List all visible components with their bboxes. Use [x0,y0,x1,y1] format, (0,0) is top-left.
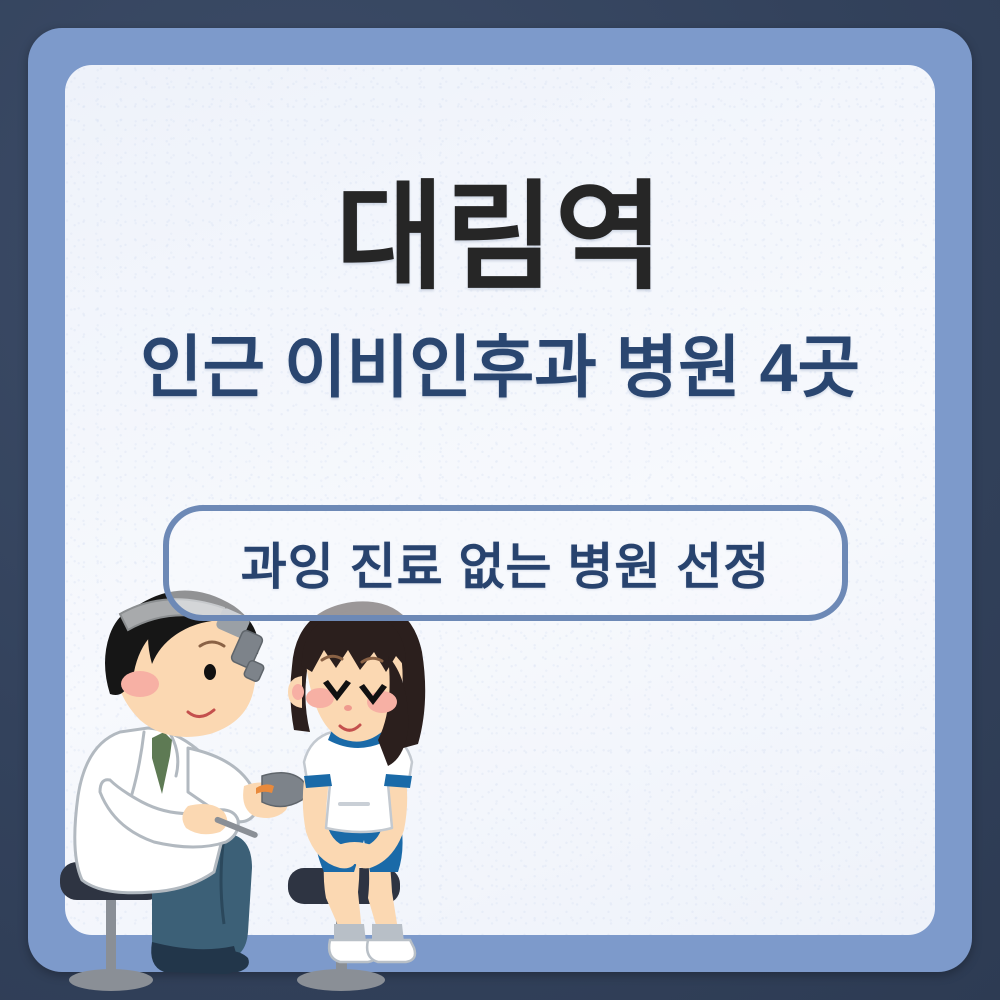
highlight-badge-label: 과잉 진료 없는 병원 선정 [241,527,771,599]
page-subtitle: 인근 이비인후과 병원 4곳 [0,333,1000,404]
page-title: 대림역 [0,178,1000,298]
doctor-examining-child-ear-illustration: .sk{fill:#fbd8b2} .sko{fill:none;stroke:… [48,580,448,1000]
highlight-badge: 과잉 진료 없는 병원 선정 [163,505,848,621]
otoscope-instrument [243,773,307,818]
poster-canvas: 대림역 인근 이비인후과 병원 4곳 과잉 진료 없는 병원 선정 .sk{fi… [0,0,1000,1000]
girl-head [288,601,425,766]
